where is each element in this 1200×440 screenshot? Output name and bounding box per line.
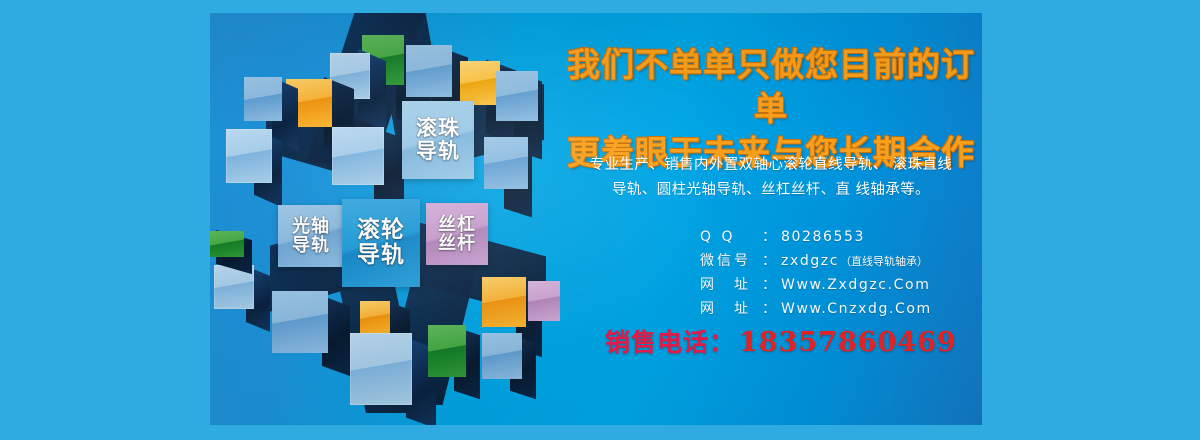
product-label-sigang-sigan[interactable]: 丝杠 丝杆 xyxy=(426,203,488,265)
contact-row-wechat: 微信号 ： zxdgzc （直线导轨轴承） xyxy=(700,249,932,273)
cube-orange-lower xyxy=(360,301,390,335)
contact-colon: ： xyxy=(762,225,776,249)
contact-value-wechat[interactable]: zxdgzc xyxy=(781,249,839,273)
cube-pink-right-edge xyxy=(528,281,560,321)
cube-blue-bottom-right xyxy=(482,333,522,379)
contact-label-website-2: 网 址 xyxy=(700,297,762,321)
sales-phone-number[interactable]: 18357860469 xyxy=(739,327,957,358)
product-label-guangzhou-daogui[interactable]: 光轴 导轨 xyxy=(278,205,344,267)
banner-content: 我们不单单只做您目前的订单 更着眼于未来与您长期合作 专业生产、销售内外置双轴心… xyxy=(560,13,982,425)
cube-face xyxy=(244,77,282,121)
cube-face xyxy=(528,281,560,321)
product-label-gunzhu-daogui[interactable]: 滚珠 导轨 xyxy=(402,101,474,179)
contact-colon: ： xyxy=(762,297,776,321)
product-label-gunlun-daogui[interactable]: 滚轮 导轨 xyxy=(342,199,420,287)
contact-block: Q Q ： 80286553 微信号 ： zxdgzc （直线导轨轴承） 网 址… xyxy=(700,225,932,321)
sales-phone[interactable]: 销售电话：18357860469 xyxy=(605,323,957,359)
cube-green-lower-left xyxy=(210,231,244,257)
cube-blue-center xyxy=(332,127,384,185)
product-label-line2: 导轨 xyxy=(416,140,460,163)
cube-blue-mid-left xyxy=(226,129,272,183)
contact-value-qq[interactable]: 80286553 xyxy=(781,225,865,249)
contact-row-website-1: 网 址 ： Www.Zxdgzc.Com xyxy=(700,273,932,297)
product-label-line2: 丝杆 xyxy=(438,234,476,253)
cube-face xyxy=(272,291,328,353)
product-label-line2: 导轨 xyxy=(292,236,330,255)
contact-value-website-1[interactable]: Www.Zxdgzc.Com xyxy=(781,273,930,297)
contact-colon: ： xyxy=(762,249,776,273)
cube-face xyxy=(496,71,538,121)
product-label-line1: 滚轮 xyxy=(357,218,405,243)
description-line-3: 线轴承等。 xyxy=(855,182,930,198)
cube-blue-top-right xyxy=(406,45,452,97)
product-label-line1: 丝杠 xyxy=(438,215,476,234)
contact-note-wechat: （直线导轨轴承） xyxy=(840,253,928,272)
cube-blue-bottom-center xyxy=(350,333,412,405)
cube-yellow-right xyxy=(460,61,500,105)
cube-blue-far-left xyxy=(244,77,282,121)
contact-value-website-2[interactable]: Www.Cnzxdg.Com xyxy=(781,297,932,321)
contact-row-qq: Q Q ： 80286553 xyxy=(700,225,932,249)
cube-face xyxy=(360,301,390,335)
cube-face xyxy=(350,333,412,405)
cube-face xyxy=(210,231,244,257)
cube-face xyxy=(482,333,522,379)
cube-blue-right-edge xyxy=(496,71,538,121)
cube-face xyxy=(482,277,526,327)
sales-phone-label: 销售电话： xyxy=(605,328,735,357)
cube-face xyxy=(332,127,384,185)
cube-green-bottom xyxy=(428,325,466,377)
cube-face xyxy=(460,61,500,105)
cube-face xyxy=(406,45,452,97)
product-label-line2: 导轨 xyxy=(357,243,405,268)
product-label-line1: 光轴 xyxy=(292,217,330,236)
description: 专业生产、销售内外置双轴心滚轮直线导轨、 滚珠直线导轨、圆柱光轴导轨、丝杠丝杆、… xyxy=(588,153,954,203)
promo-banner: 滚珠 导轨 光轴 导轨 滚轮 导轨 丝杠 丝杆 我们不单单只做您目前的订单 更着… xyxy=(210,13,982,425)
cube-cluster-graphic: 滚珠 导轨 光轴 导轨 滚轮 导轨 丝杠 丝杆 xyxy=(210,13,560,425)
product-label-line1: 滚珠 xyxy=(416,117,460,140)
contact-label-qq: Q Q xyxy=(700,225,762,249)
cube-orange-bottom-right xyxy=(482,277,526,327)
contact-colon: ： xyxy=(762,273,776,297)
contact-label-website-1: 网 址 xyxy=(700,273,762,297)
cube-face xyxy=(428,325,466,377)
cube-blue-lower-center xyxy=(272,291,328,353)
cube-blue-mid-right xyxy=(484,137,528,189)
headline-line-1: 我们不单单只做您目前的订单 xyxy=(560,43,982,131)
description-line-1: 专业生产、销售内外置双轴心滚轮直线导轨、 xyxy=(590,157,888,173)
contact-row-website-2: 网 址 ： Www.Cnzxdg.Com xyxy=(700,297,932,321)
cube-face xyxy=(226,129,272,183)
banner-page: 滚珠 导轨 光轴 导轨 滚轮 导轨 丝杠 丝杆 我们不单单只做您目前的订单 更着… xyxy=(0,0,1200,440)
cube-face xyxy=(484,137,528,189)
contact-label-wechat: 微信号 xyxy=(700,249,762,273)
